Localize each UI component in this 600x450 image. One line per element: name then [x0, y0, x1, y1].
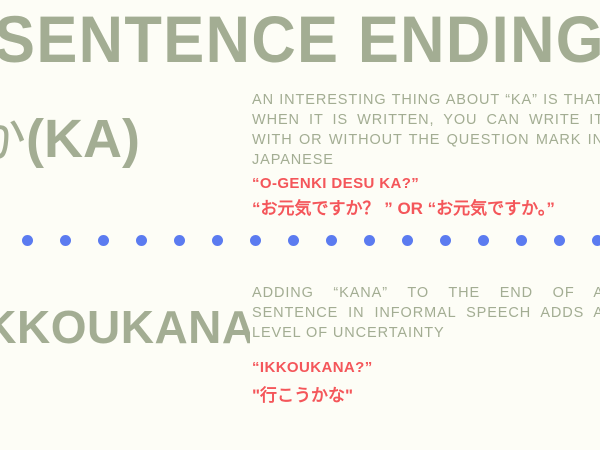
dot-divider: [0, 232, 600, 248]
title-band: SENTENCE ENDING PARTICLES: [0, 0, 600, 82]
section-ka-heading-romaji: (KA): [26, 109, 140, 169]
section-kana-example-japanese: "行こうかな": [252, 381, 600, 406]
divider-dot: [402, 235, 413, 246]
divider-dot: [98, 235, 109, 246]
section-ka-heading-kana: か: [0, 109, 26, 169]
divider-dot: [440, 235, 451, 246]
section-ka-body-column: AN INTERESTING THING ABOUT “KA” IS THAT …: [252, 84, 600, 229]
section-kana: IKKOUKANA (かな) ADDING “KANA” TO THE END …: [0, 282, 600, 427]
section-kana-body-column: ADDING “KANA” TO THE END OF A SENTENCE I…: [252, 282, 600, 427]
section-ka-example-romaji: “O-GENKI DESU KA?”: [252, 175, 600, 192]
page-title: SENTENCE ENDING PARTICLES: [0, 4, 600, 74]
divider-dot: [288, 235, 299, 246]
slide-page: SENTENCE ENDING PARTICLES か(KA) AN INTER…: [0, 0, 600, 450]
section-kana-body-text: ADDING “KANA” TO THE END OF A SENTENCE I…: [252, 282, 600, 343]
divider-dot: [22, 235, 33, 246]
section-kana-example-romaji: “IKKOUKANA?”: [252, 359, 600, 376]
divider-dot: [250, 235, 261, 246]
section-ka-heading-column: か(KA): [0, 84, 250, 229]
divider-dot: [592, 235, 600, 246]
divider-dot: [516, 235, 527, 246]
section-kana-heading: IKKOUKANA (かな): [0, 304, 250, 350]
divider-dot: [136, 235, 147, 246]
section-kana-heading-romaji: IKKOUKANA: [0, 301, 250, 353]
section-ka-example-japanese: “お元気ですか？ ” OR “お元気ですか。”: [252, 194, 600, 219]
divider-dot: [174, 235, 185, 246]
section-ka: か(KA) AN INTERESTING THING ABOUT “KA” IS…: [0, 84, 600, 229]
divider-dot: [478, 235, 489, 246]
divider-dot: [326, 235, 337, 246]
section-ka-body-text: AN INTERESTING THING ABOUT “KA” IS THAT …: [252, 84, 600, 170]
section-ka-heading: か(KA): [0, 112, 140, 166]
divider-dot: [554, 235, 565, 246]
divider-dot: [364, 235, 375, 246]
section-kana-heading-column: IKKOUKANA (かな): [0, 282, 250, 427]
divider-dot: [212, 235, 223, 246]
divider-dot: [60, 235, 71, 246]
